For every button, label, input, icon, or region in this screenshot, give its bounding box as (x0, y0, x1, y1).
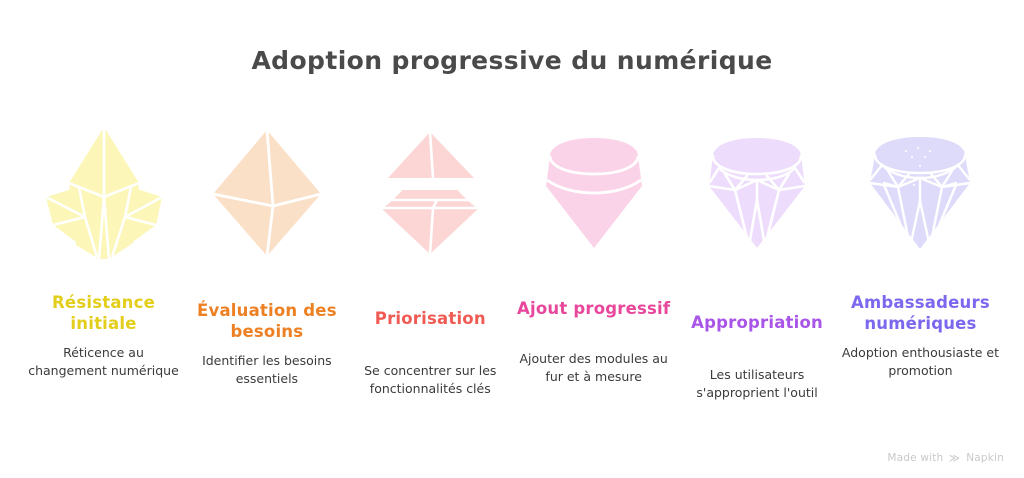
crystal-cluster-icon (34, 118, 174, 268)
stage-label: Ajout progressif (517, 298, 670, 340)
stage-description: Identifier les besoins essentiels (187, 352, 347, 388)
stage-label: Évaluation des besoins (185, 300, 348, 342)
napkin-logo-icon: ≫ (949, 452, 960, 464)
stage-item-resistance[interactable]: Résistance initiale Réticence au changem… (22, 118, 185, 380)
napkin-watermark: Made with ≫ Napkin (887, 452, 1004, 464)
stage-description: Réticence au changement numérique (24, 344, 184, 380)
watermark-prefix: Made with (887, 452, 943, 464)
stage-description: Ajouter des modules au fur et à mesure (514, 350, 674, 386)
stage-item-priorisation[interactable]: Priorisation Se concentrer sur les fonct… (349, 118, 512, 398)
stage-label: Appropriation (691, 312, 823, 354)
stage-item-ambassadeurs[interactable]: Ambassadeurs numériques Adoption enthous… (839, 118, 1002, 380)
stage-item-ajout[interactable]: Ajout progressif Ajouter des modules au … (512, 118, 675, 386)
stage-label: Résistance initiale (22, 292, 185, 334)
stage-description: Les utilisateurs s'approprient l'outil (677, 366, 837, 402)
stage-description: Adoption enthousiaste et promotion (840, 344, 1000, 380)
split-gem-icon (360, 118, 500, 268)
octahedron-crystal-icon (197, 118, 337, 268)
stage-list: Résistance initiale Réticence au changem… (22, 118, 1002, 402)
faceted-diamond-icon (687, 118, 827, 268)
round-brilliant-gem-icon (524, 118, 664, 268)
page-title: Adoption progressive du numérique (0, 46, 1024, 75)
stage-item-evaluation[interactable]: Évaluation des besoins Identifier les be… (185, 118, 348, 388)
brilliant-diamond-icon (850, 118, 990, 268)
slide-canvas: Adoption progressive du numérique (0, 0, 1024, 478)
stage-description: Se concentrer sur les fonctionnalités cl… (350, 362, 510, 398)
stage-label: Ambassadeurs numériques (839, 292, 1002, 334)
stage-label: Priorisation (375, 308, 486, 350)
stage-item-appropriation[interactable]: Appropriation Les utilisateurs s'appropr… (676, 118, 839, 402)
watermark-brand: Napkin (966, 452, 1004, 464)
